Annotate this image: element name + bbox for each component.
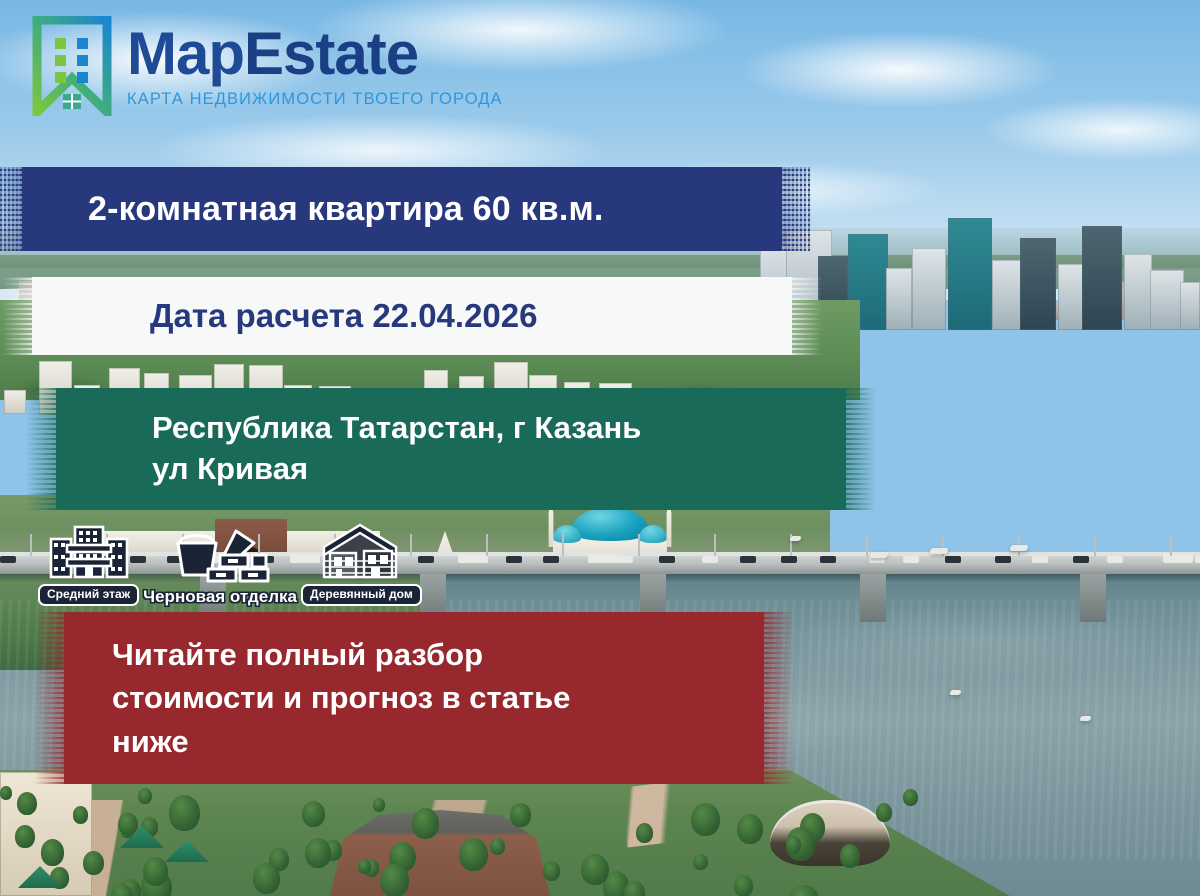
address-line-2: ул Кривая — [56, 449, 308, 490]
brush-edge-left — [26, 388, 60, 510]
feature-label: Черновая отделка — [143, 588, 297, 607]
property-title: 2-комнатная квартира 60 кв.м. — [22, 190, 604, 229]
address-banner: Республика Татарстан, г Казань ул Кривая — [56, 388, 846, 510]
date-banner: Дата расчета 22.04.2026 — [32, 277, 792, 355]
feature-label: Средний этаж — [38, 584, 139, 606]
mosque-small-dome — [639, 525, 667, 543]
brush-edge-left — [0, 167, 26, 251]
wooden-house-icon — [316, 521, 406, 581]
calculation-date: Дата расчета 22.04.2026 — [32, 297, 537, 335]
feature-label: Деревянный дом — [301, 584, 422, 606]
cta-banner[interactable]: Читайте полный разбор стоимости и прогно… — [64, 612, 764, 784]
property-banner: 2-комнатная квартира 60 кв.м. — [22, 167, 782, 251]
promo-poster: MapEstate КАРТА НЕДВИЖИМОСТИ ТВОЕГО ГОРО… — [0, 0, 1200, 896]
brand-tagline: КАРТА НЕДВИЖИМОСТИ ТВОЕГО ГОРОДА — [127, 90, 503, 109]
feature-badges: Средний этаж Черновая о — [38, 521, 422, 606]
brand-name-estate: Estate — [244, 20, 418, 87]
feature-badge-floor: Средний этаж — [38, 521, 139, 606]
cta-line-2: стоимости и прогноз в статье — [64, 676, 570, 719]
brush-edge-left — [34, 612, 68, 784]
brush-edge-left — [2, 277, 36, 355]
brand-logo[interactable]: MapEstate КАРТА НЕДВИЖИМОСТИ ТВОЕГО ГОРО… — [31, 16, 503, 116]
brand-name-map: Map — [127, 20, 244, 87]
cta-line-1: Читайте полный разбор — [64, 633, 483, 676]
cta-line-3: ниже — [64, 720, 189, 763]
paint-bucket-trowel-icon — [168, 525, 272, 585]
brush-edge-right — [788, 277, 822, 355]
bookmark-building-icon — [31, 16, 113, 116]
brush-edge-right — [842, 388, 876, 510]
brush-edge-right — [778, 167, 812, 251]
apartment-building-icon — [45, 521, 133, 581]
brand-name: MapEstate — [127, 24, 503, 84]
feature-badge-finish: Черновая отделка — [143, 525, 297, 607]
feature-badge-house: Деревянный дом — [301, 521, 422, 606]
brand-wordmark: MapEstate КАРТА НЕДВИЖИМОСТИ ТВОЕГО ГОРО… — [127, 24, 503, 109]
address-line-1: Республика Татарстан, г Казань — [56, 408, 641, 449]
brush-edge-right — [760, 612, 794, 784]
